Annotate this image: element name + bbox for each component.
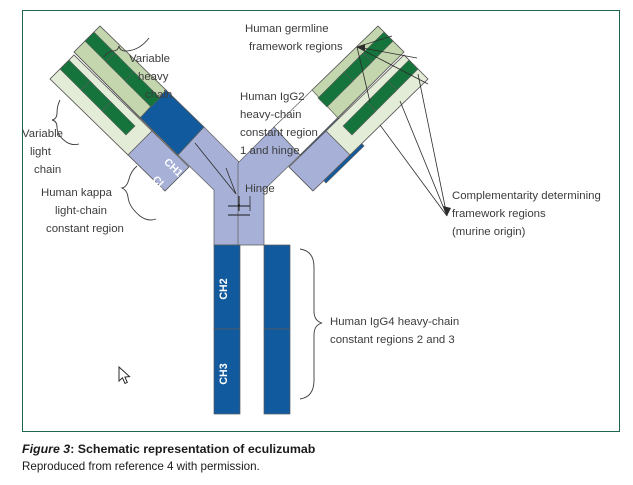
igg2-line-4: 1 and hinge bbox=[240, 145, 300, 157]
label-human-germline: Human germline framework regions bbox=[245, 23, 343, 53]
left-elbow-block bbox=[178, 127, 240, 245]
cdr-line-3: (murine origin) bbox=[452, 226, 526, 238]
caption-credit: Reproduced from reference 4 with permiss… bbox=[22, 459, 622, 475]
antibody-diagram: CH2 CH3 CH1 CL Variable heavy bbox=[0, 0, 633, 440]
igg4-line-2: constant regions 2 and 3 bbox=[330, 334, 455, 346]
igg2-line-2: heavy-chain bbox=[240, 109, 301, 121]
ch3-right-block bbox=[264, 329, 290, 414]
vlc-line-3: chain bbox=[34, 164, 61, 176]
caption-title-line: Figure 3: Schematic representation of ec… bbox=[22, 441, 622, 458]
figure-number: Figure 3 bbox=[22, 442, 70, 456]
brace-igg4 bbox=[300, 249, 322, 399]
ch2-right-block bbox=[264, 245, 290, 329]
label-hinge: Hinge bbox=[245, 183, 275, 195]
left-hinge-elbow bbox=[178, 127, 240, 245]
kappa-line-1: Human kappa bbox=[41, 187, 113, 199]
germline-line-2: framework regions bbox=[249, 41, 343, 53]
igg2-line-1: Human IgG2 bbox=[240, 91, 305, 103]
vlc-line-1: Variable bbox=[22, 128, 63, 140]
figure-title: : Schematic representation of eculizumab bbox=[70, 442, 315, 456]
label-complementarity: Complementarity determining framework re… bbox=[452, 190, 601, 238]
igg4-line-1: Human IgG4 heavy-chain bbox=[330, 316, 459, 328]
stem-left: CH2 CH3 bbox=[214, 245, 240, 414]
cdr-line-1: Complementarity determining bbox=[452, 190, 601, 202]
cdr-line-2: framework regions bbox=[452, 208, 546, 220]
figure-caption: Figure 3: Schematic representation of ec… bbox=[22, 441, 622, 474]
vlc-line-2: light bbox=[30, 146, 52, 158]
vhc-line-2: heavy bbox=[138, 71, 169, 83]
igg2-line-3: constant region bbox=[240, 127, 318, 139]
vhc-line-3: chain bbox=[145, 89, 172, 101]
kappa-line-3: constant region bbox=[46, 223, 124, 235]
vhc-line-1: Variable bbox=[129, 53, 170, 65]
ch3-label: CH3 bbox=[218, 363, 230, 384]
label-variable-light-chain: Variable light chain bbox=[22, 128, 63, 176]
label-human-igg4: Human IgG4 heavy-chain constant regions … bbox=[330, 316, 459, 346]
germline-line-1: Human germline bbox=[245, 23, 329, 35]
ch2-label: CH2 bbox=[218, 278, 230, 299]
kappa-line-2: light-chain bbox=[55, 205, 107, 217]
label-human-igg2: Human IgG2 heavy-chain constant region 1… bbox=[240, 91, 318, 157]
stem-right bbox=[264, 245, 290, 414]
label-human-kappa: Human kappa light-chain constant region bbox=[41, 187, 124, 235]
